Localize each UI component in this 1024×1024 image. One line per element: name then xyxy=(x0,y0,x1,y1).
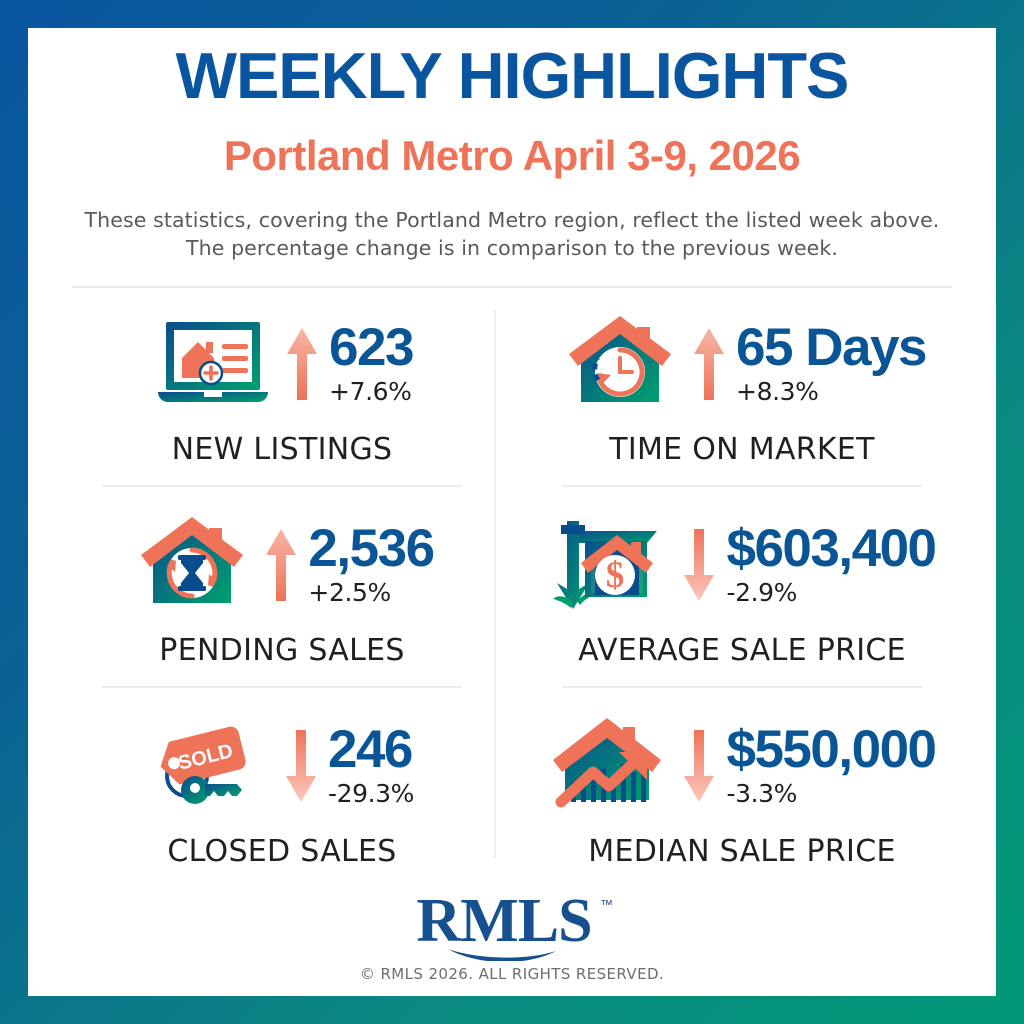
stat-value: 623 xyxy=(329,322,413,374)
stat-card-pending-sales: 2,536 +2.5% PENDING SALES xyxy=(52,495,512,696)
stat-label: PENDING SALES xyxy=(52,633,512,668)
stat-value: 65 Days xyxy=(736,322,926,374)
stat-label: TIME ON MARKET xyxy=(512,432,972,467)
stat-divider xyxy=(102,485,462,487)
stat-label: CLOSED SALES xyxy=(52,834,512,869)
trend-arrow-up-icon xyxy=(258,525,304,605)
rmls-logo-text: RMLS xyxy=(416,887,591,955)
stat-value: 2,536 xyxy=(308,523,433,575)
trend-arrow-down-icon xyxy=(278,726,324,806)
sold-tag-keys-icon: SOLD xyxy=(150,714,274,818)
stat-card-closed-sales: SOLD 246 -29.3% CLOSED S xyxy=(52,696,512,877)
stat-change: -2.9% xyxy=(726,578,797,607)
stat-change: +8.3% xyxy=(736,377,818,406)
stat-label: MEDIAN SALE PRICE xyxy=(512,834,972,869)
rmls-logo: RMLS ™ xyxy=(392,887,632,961)
stat-value: 246 xyxy=(328,724,412,776)
stat-change: +7.6% xyxy=(329,377,411,406)
page-title: WEEKLY HIGHLIGHTS xyxy=(28,42,996,110)
infographic-card: WEEKLY HIGHLIGHTS Portland Metro April 3… xyxy=(28,28,996,996)
trend-arrow-up-icon xyxy=(279,324,325,404)
stat-change: +2.5% xyxy=(308,578,390,607)
stat-change: -29.3% xyxy=(328,779,414,808)
stat-card-average-sale-price: $ $603,400 -2.9% AVERAGE SALE PRICE xyxy=(512,495,972,696)
house-clock-icon xyxy=(558,312,682,416)
trademark-symbol: ™ xyxy=(600,897,613,912)
dollar-sign-glyph: $ xyxy=(606,555,625,596)
stats-grid: 623 +7.6% NEW LISTINGS xyxy=(52,288,972,877)
stat-card-new-listings: 623 +7.6% NEW LISTINGS xyxy=(52,294,512,495)
house-bar-chart-arrow-icon xyxy=(548,714,672,818)
stat-card-time-on-market: 65 Days +8.3% TIME ON MARKET xyxy=(512,294,972,495)
yard-sign-dollar-icon: $ xyxy=(548,513,672,617)
footer: RMLS ™ © RMLS 2026. ALL RIGHTS RESERVED. xyxy=(28,887,996,983)
laptop-listing-icon xyxy=(151,312,275,416)
stat-value: $603,400 xyxy=(726,523,935,575)
trend-arrow-up-icon xyxy=(686,324,732,404)
stat-divider xyxy=(562,485,922,487)
header: WEEKLY HIGHLIGHTS Portland Metro April 3… xyxy=(28,28,996,288)
stat-divider xyxy=(562,686,922,688)
copyright-text: © RMLS 2026. ALL RIGHTS RESERVED. xyxy=(28,965,996,983)
trend-arrow-down-icon xyxy=(676,726,722,806)
stat-value: $550,000 xyxy=(726,724,935,776)
stat-card-median-sale-price: $550,000 -3.3% MEDIAN SALE PRICE xyxy=(512,696,972,877)
stat-divider xyxy=(102,686,462,688)
stat-label: AVERAGE SALE PRICE xyxy=(512,633,972,668)
page-subtitle: Portland Metro April 3-9, 2026 xyxy=(28,132,996,180)
house-hourglass-icon xyxy=(130,513,254,617)
stat-label: NEW LISTINGS xyxy=(52,432,512,467)
page-description: These statistics, covering the Portland … xyxy=(67,206,957,263)
stat-change: -3.3% xyxy=(726,779,797,808)
trend-arrow-down-icon xyxy=(676,525,722,605)
